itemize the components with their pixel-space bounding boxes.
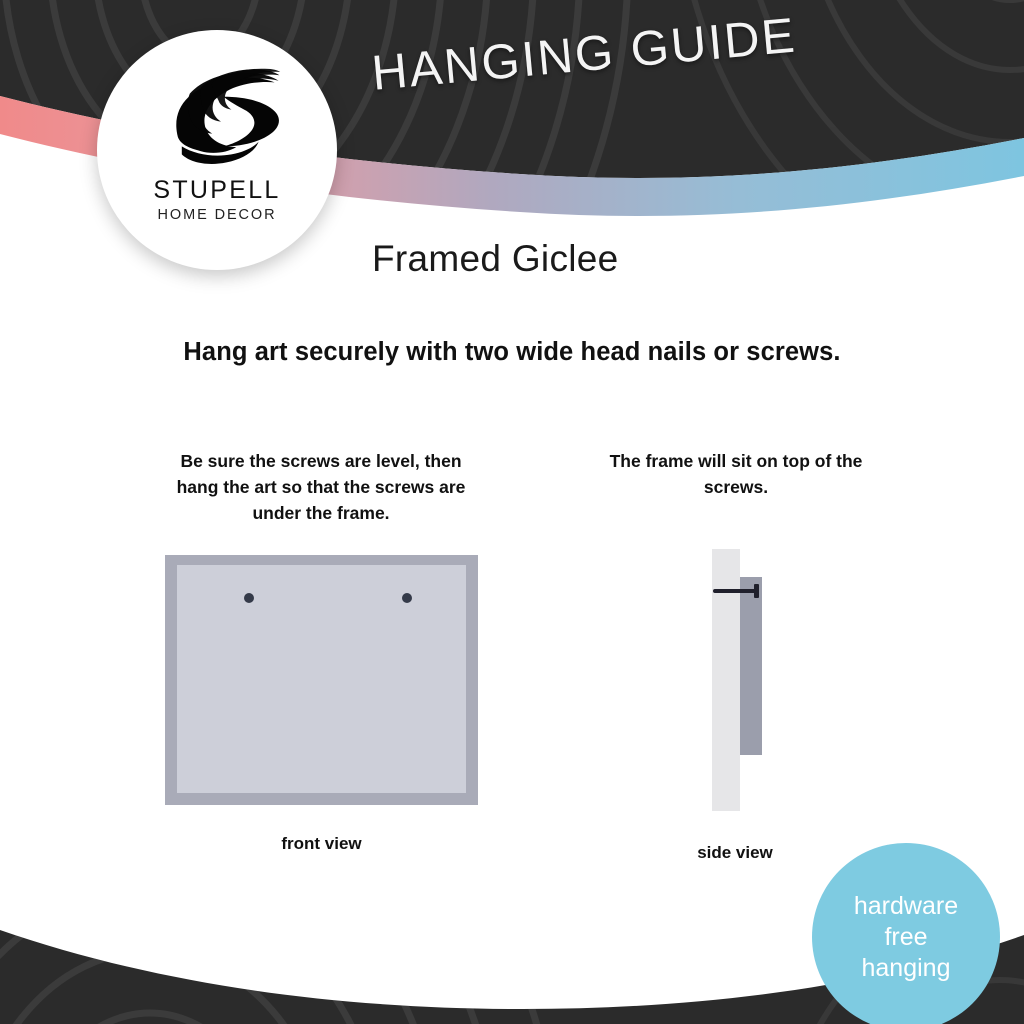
page-title: HANGING GUIDE: [369, 0, 892, 102]
main-instruction-text: Hang art securely with two wide head nai…: [0, 338, 1024, 367]
screw-dot-left-icon: [244, 593, 254, 603]
front-view-caption-text: Be sure the screws are level, then hang …: [165, 448, 477, 526]
brand-name: STUPELL: [153, 176, 280, 205]
badge-line-3: hanging: [862, 953, 951, 984]
side-view-caption-text: The frame will sit on top of the screws.: [600, 448, 872, 500]
side-view-diagram: [700, 545, 820, 815]
stupell-swirl-logo-icon: [151, 52, 283, 172]
product-name: Framed Giclee: [372, 238, 619, 280]
brand-tagline: HOME DECOR: [158, 207, 277, 223]
hanging-guide-page: STUPELL HOME DECOR HANGING GUIDE Framed …: [0, 0, 1024, 1024]
side-view-label: side view: [655, 843, 815, 863]
hardware-free-hanging-badge: hardware free hanging: [812, 843, 1000, 1024]
side-view-frame: [740, 577, 762, 755]
front-view-diagram: [165, 555, 478, 805]
front-view-label: front view: [165, 834, 478, 854]
brand-logo-badge: STUPELL HOME DECOR: [97, 30, 337, 270]
nail-head-icon: [754, 584, 759, 598]
badge-line-2: free: [884, 922, 927, 953]
front-view-mat: [177, 565, 466, 793]
badge-line-1: hardware: [854, 891, 958, 922]
screw-dot-right-icon: [402, 593, 412, 603]
nail-shaft-icon: [713, 589, 758, 593]
